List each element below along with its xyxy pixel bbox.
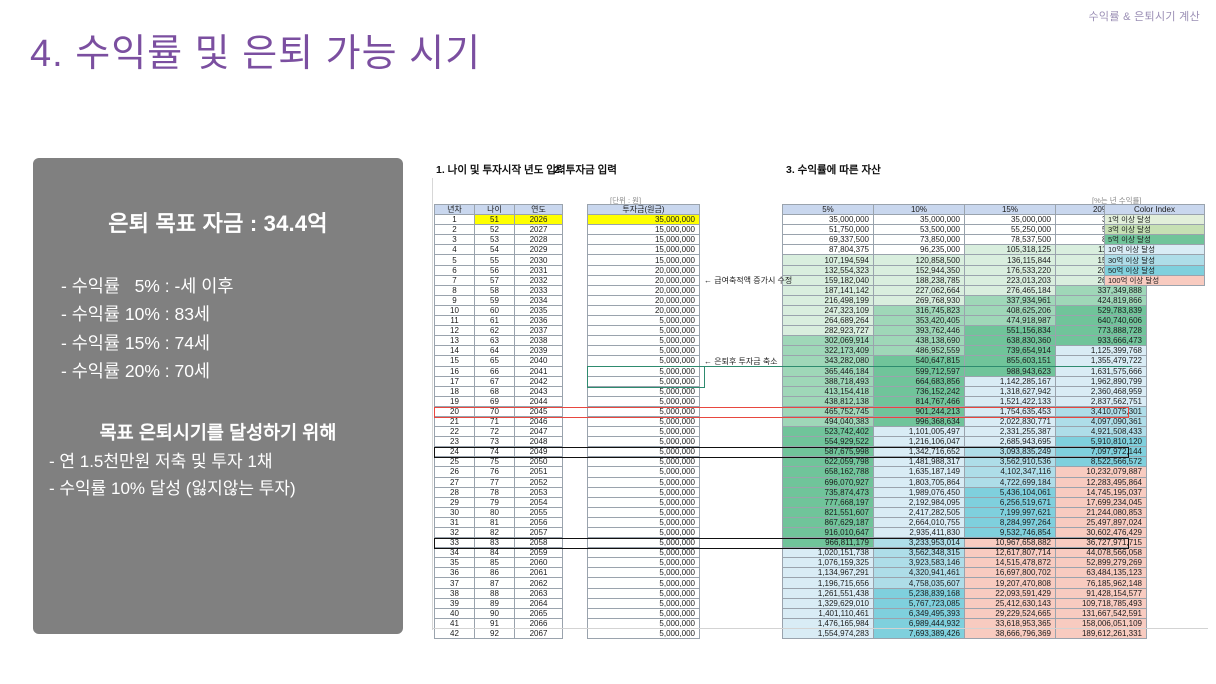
cell-asset-rate-10[interactable]: 814,767,466 [874, 396, 965, 406]
cell-asset-rate-15[interactable]: 408,625,206 [965, 305, 1056, 315]
cell-asset-rate-15[interactable]: 6,256,519,671 [965, 497, 1056, 507]
cell-asset-rate-20[interactable]: 21,244,080,853 [1056, 507, 1147, 517]
cell-asset-rate-20[interactable]: 131,667,542,591 [1056, 608, 1147, 618]
cell-asset-rate-10[interactable]: 996,368,634 [874, 416, 965, 426]
table-row[interactable]: 8582033 [435, 285, 563, 295]
cell-age[interactable]: 54 [475, 245, 515, 255]
cell-age[interactable]: 76 [475, 467, 515, 477]
cell-asset-rate-5[interactable]: 51,750,000 [783, 225, 874, 235]
table-row[interactable]: 4542029 [435, 245, 563, 255]
cell-age[interactable]: 85 [475, 558, 515, 568]
cell-year[interactable]: 2027 [515, 225, 563, 235]
cell-asset-rate-5[interactable]: 777,668,197 [783, 497, 874, 507]
cell-asset-rate-5[interactable]: 587,675,998 [783, 447, 874, 457]
cell-investment[interactable]: 5,000,000 [588, 608, 700, 618]
cell-asset-rate-15[interactable]: 35,000,000 [965, 215, 1056, 225]
table-row[interactable]: 5,000,000 [588, 386, 700, 396]
cell-asset-rate-20[interactable]: 76,185,962,148 [1056, 578, 1147, 588]
cell-asset-rate-20[interactable]: 14,745,195,037 [1056, 487, 1147, 497]
table-row[interactable]: 69,337,50073,850,00078,537,50083,400,000 [783, 235, 1147, 245]
cell-asset-rate-10[interactable]: 2,935,411,830 [874, 528, 965, 538]
cell-investment[interactable]: 5,000,000 [588, 507, 700, 517]
cell-asset-rate-5[interactable]: 322,173,409 [783, 346, 874, 356]
cell-asset-rate-5[interactable]: 554,929,522 [783, 437, 874, 447]
cell-investment[interactable]: 35,000,000 [588, 215, 700, 225]
table-row[interactable]: 282,923,727393,762,446551,156,834773,888… [783, 326, 1147, 336]
cell-asset-rate-10[interactable]: 664,683,856 [874, 376, 965, 386]
cell-investment[interactable]: 5,000,000 [588, 558, 700, 568]
cell-asset-rate-15[interactable]: 14,515,478,872 [965, 558, 1056, 568]
table-row[interactable]: 15,000,000 [588, 235, 700, 245]
cell-year-index[interactable]: 20 [435, 406, 475, 416]
cell-asset-rate-15[interactable]: 276,465,184 [965, 285, 1056, 295]
table-row[interactable]: 34842059 [435, 548, 563, 558]
cell-investment[interactable]: 5,000,000 [588, 326, 700, 336]
cell-asset-rate-10[interactable]: 393,762,446 [874, 326, 965, 336]
cell-asset-rate-5[interactable]: 916,010,647 [783, 528, 874, 538]
table-row[interactable]: 465,752,745901,244,2131,754,635,4533,410… [783, 406, 1147, 416]
cell-year[interactable]: 2048 [515, 437, 563, 447]
cell-age[interactable]: 79 [475, 497, 515, 507]
table-row[interactable]: 37872062 [435, 578, 563, 588]
table-row[interactable]: 20,000,000 [588, 275, 700, 285]
cell-age[interactable]: 75 [475, 457, 515, 467]
cell-asset-rate-20[interactable]: 109,718,785,493 [1056, 598, 1147, 608]
cell-year[interactable]: 2028 [515, 235, 563, 245]
table-row[interactable]: 5,000,000 [588, 447, 700, 457]
cell-asset-rate-10[interactable]: 540,647,815 [874, 356, 965, 366]
cell-asset-rate-5[interactable]: 159,182,040 [783, 275, 874, 285]
table-row[interactable]: 5,000,000 [588, 608, 700, 618]
cell-age[interactable]: 90 [475, 608, 515, 618]
cell-investment[interactable]: 5,000,000 [588, 366, 700, 376]
table-row[interactable]: 867,629,1872,664,010,7558,284,997,26425,… [783, 517, 1147, 527]
cell-year[interactable]: 2053 [515, 487, 563, 497]
cell-asset-rate-10[interactable]: 4,758,035,607 [874, 578, 965, 588]
table-row[interactable]: 20,000,000 [588, 265, 700, 275]
cell-asset-rate-5[interactable]: 438,812,138 [783, 396, 874, 406]
cell-year-index[interactable]: 27 [435, 477, 475, 487]
table-row[interactable]: 1,134,967,2914,320,941,46116,697,800,702… [783, 568, 1147, 578]
cell-investment[interactable]: 5,000,000 [588, 346, 700, 356]
cell-asset-rate-10[interactable]: 73,850,000 [874, 235, 965, 245]
cell-asset-rate-20[interactable]: 17,699,234,045 [1056, 497, 1147, 507]
table-row[interactable]: 1512026 [435, 215, 563, 225]
cell-age[interactable]: 74 [475, 447, 515, 457]
asset-projection-table[interactable]: 5% 10% 15% 20% 35,000,00035,000,00035,00… [782, 204, 1147, 639]
cell-asset-rate-15[interactable]: 1,754,635,453 [965, 406, 1056, 416]
cell-year[interactable]: 2052 [515, 477, 563, 487]
cell-asset-rate-5[interactable]: 735,874,473 [783, 487, 874, 497]
table-row[interactable]: 38882063 [435, 588, 563, 598]
cell-asset-rate-10[interactable]: 227,062,664 [874, 285, 965, 295]
cell-investment[interactable]: 5,000,000 [588, 406, 700, 416]
table-row[interactable]: 5,000,000 [588, 316, 700, 326]
cell-asset-rate-10[interactable]: 269,768,930 [874, 295, 965, 305]
table-row[interactable]: 21712046 [435, 416, 563, 426]
cell-year[interactable]: 2037 [515, 326, 563, 336]
cell-asset-rate-15[interactable]: 12,617,807,714 [965, 548, 1056, 558]
table-row[interactable]: 159,182,040188,238,785223,013,203264,458… [783, 275, 1147, 285]
cell-asset-rate-5[interactable]: 1,020,151,738 [783, 548, 874, 558]
cell-asset-rate-20[interactable]: 424,819,866 [1056, 295, 1147, 305]
cell-year[interactable]: 2031 [515, 265, 563, 275]
cell-age[interactable]: 80 [475, 507, 515, 517]
cell-asset-rate-20[interactable]: 4,097,090,361 [1056, 416, 1147, 426]
cell-year-index[interactable]: 25 [435, 457, 475, 467]
cell-asset-rate-20[interactable]: 1,962,890,799 [1056, 376, 1147, 386]
cell-year-index[interactable]: 16 [435, 366, 475, 376]
cell-asset-rate-20[interactable]: 2,837,562,751 [1056, 396, 1147, 406]
cell-asset-rate-5[interactable]: 216,498,199 [783, 295, 874, 305]
cell-asset-rate-15[interactable]: 8,284,997,264 [965, 517, 1056, 527]
cell-year-index[interactable]: 18 [435, 386, 475, 396]
cell-age[interactable]: 51 [475, 215, 515, 225]
cell-asset-rate-10[interactable]: 4,320,941,461 [874, 568, 965, 578]
cell-year[interactable]: 2060 [515, 558, 563, 568]
cell-year-index[interactable]: 37 [435, 578, 475, 588]
cell-age[interactable]: 67 [475, 376, 515, 386]
table-row[interactable]: 20,000,000 [588, 285, 700, 295]
table-row[interactable]: 15,000,000 [588, 245, 700, 255]
cell-asset-rate-20[interactable]: 91,428,154,577 [1056, 588, 1147, 598]
cell-year[interactable]: 2057 [515, 528, 563, 538]
cell-asset-rate-10[interactable]: 6,989,444,932 [874, 618, 965, 628]
cell-year[interactable]: 2039 [515, 346, 563, 356]
cell-asset-rate-15[interactable]: 739,654,914 [965, 346, 1056, 356]
cell-year-index[interactable]: 14 [435, 346, 475, 356]
cell-asset-rate-10[interactable]: 35,000,000 [874, 215, 965, 225]
cell-asset-rate-15[interactable]: 16,697,800,702 [965, 568, 1056, 578]
cell-asset-rate-5[interactable]: 388,718,493 [783, 376, 874, 386]
cell-asset-rate-20[interactable]: 7,097,972,144 [1056, 447, 1147, 457]
cell-investment[interactable]: 5,000,000 [588, 336, 700, 346]
table-row[interactable]: 388,718,493664,683,8561,142,285,1671,962… [783, 376, 1147, 386]
table-row[interactable]: 5,000,000 [588, 568, 700, 578]
table-row[interactable]: 438,812,138814,767,4661,521,422,1332,837… [783, 396, 1147, 406]
cell-age[interactable]: 73 [475, 437, 515, 447]
cell-asset-rate-20[interactable]: 337,349,888 [1056, 285, 1147, 295]
cell-age[interactable]: 83 [475, 538, 515, 548]
table-row[interactable]: 31812056 [435, 517, 563, 527]
table-row[interactable]: 5,000,000 [588, 427, 700, 437]
table-row[interactable]: 23732048 [435, 437, 563, 447]
cell-asset-rate-15[interactable]: 551,156,834 [965, 326, 1056, 336]
cell-year-index[interactable]: 40 [435, 608, 475, 618]
cell-year[interactable]: 2045 [515, 406, 563, 416]
cell-asset-rate-15[interactable]: 4,102,347,116 [965, 467, 1056, 477]
cell-year-index[interactable]: 23 [435, 437, 475, 447]
cell-investment[interactable]: 5,000,000 [588, 568, 700, 578]
table-row[interactable]: 302,069,914438,138,690638,830,360933,666… [783, 336, 1147, 346]
cell-age[interactable]: 86 [475, 568, 515, 578]
cell-asset-rate-10[interactable]: 5,238,839,168 [874, 588, 965, 598]
cell-year-index[interactable]: 19 [435, 396, 475, 406]
cell-asset-rate-5[interactable]: 1,261,551,438 [783, 588, 874, 598]
cell-year[interactable]: 2029 [515, 245, 563, 255]
cell-asset-rate-15[interactable]: 22,093,591,429 [965, 588, 1056, 598]
cell-asset-rate-20[interactable]: 10,232,079,887 [1056, 467, 1147, 477]
cell-year-index[interactable]: 8 [435, 285, 475, 295]
cell-age[interactable]: 59 [475, 295, 515, 305]
cell-asset-rate-5[interactable]: 264,689,264 [783, 316, 874, 326]
cell-year-index[interactable]: 12 [435, 326, 475, 336]
cell-asset-rate-5[interactable]: 658,162,788 [783, 467, 874, 477]
cell-asset-rate-10[interactable]: 5,767,723,085 [874, 598, 965, 608]
cell-asset-rate-10[interactable]: 353,420,405 [874, 316, 965, 326]
table-row[interactable]: 11612036 [435, 316, 563, 326]
cell-asset-rate-10[interactable]: 316,745,823 [874, 305, 965, 315]
table-row[interactable]: 5,000,000 [588, 558, 700, 568]
cell-asset-rate-5[interactable]: 187,141,142 [783, 285, 874, 295]
cell-investment[interactable]: 5,000,000 [588, 427, 700, 437]
table-row[interactable]: 343,282,080540,647,815855,603,1511,355,4… [783, 356, 1147, 366]
cell-year-index[interactable]: 29 [435, 497, 475, 507]
cell-year-index[interactable]: 39 [435, 598, 475, 608]
cell-investment[interactable]: 5,000,000 [588, 578, 700, 588]
cell-asset-rate-15[interactable]: 9,532,746,854 [965, 528, 1056, 538]
table-row[interactable]: 413,154,418736,152,2421,318,627,9422,360… [783, 386, 1147, 396]
table-row[interactable]: 622,059,7981,481,988,3173,562,910,5368,5… [783, 457, 1147, 467]
table-row[interactable]: 15652040 [435, 356, 563, 366]
table-row[interactable]: 5,000,000 [588, 467, 700, 477]
table-row[interactable]: 26762051 [435, 467, 563, 477]
cell-asset-rate-10[interactable]: 7,693,389,426 [874, 628, 965, 638]
table-row[interactable]: 5,000,000 [588, 538, 700, 548]
table-row[interactable]: 5,000,000 [588, 356, 700, 366]
cell-age[interactable]: 62 [475, 326, 515, 336]
table-row[interactable]: 18682043 [435, 386, 563, 396]
cell-asset-rate-5[interactable]: 247,323,109 [783, 305, 874, 315]
table-row[interactable]: 5,000,000 [588, 326, 700, 336]
investment-table[interactable]: 투자금(원금) 35,000,00015,000,00015,000,00015… [587, 204, 700, 639]
table-row[interactable]: 5,000,000 [588, 628, 700, 638]
table-row[interactable]: 1,261,551,4385,238,839,16822,093,591,429… [783, 588, 1147, 598]
cell-age[interactable]: 68 [475, 386, 515, 396]
cell-investment[interactable]: 5,000,000 [588, 467, 700, 477]
table-row[interactable]: 5,000,000 [588, 477, 700, 487]
table-row[interactable]: 9592034 [435, 295, 563, 305]
table-row[interactable]: 41912066 [435, 618, 563, 628]
cell-asset-rate-20[interactable]: 1,355,479,722 [1056, 356, 1147, 366]
cell-asset-rate-15[interactable]: 4,722,699,184 [965, 477, 1056, 487]
cell-asset-rate-10[interactable]: 1,481,988,317 [874, 457, 965, 467]
table-row[interactable]: 365,446,184599,712,597988,943,6231,631,5… [783, 366, 1147, 376]
cell-investment[interactable]: 15,000,000 [588, 225, 700, 235]
table-row[interactable]: 1,076,159,3253,923,583,14614,515,478,872… [783, 558, 1147, 568]
cell-asset-rate-15[interactable]: 2,685,943,695 [965, 437, 1056, 447]
cell-asset-rate-15[interactable]: 78,537,500 [965, 235, 1056, 245]
cell-year-index[interactable]: 24 [435, 447, 475, 457]
cell-investment[interactable]: 5,000,000 [588, 497, 700, 507]
table-row[interactable]: 777,668,1972,192,984,0956,256,519,67117,… [783, 497, 1147, 507]
cell-asset-rate-10[interactable]: 188,238,785 [874, 275, 965, 285]
table-row[interactable]: 5,000,000 [588, 416, 700, 426]
cell-investment[interactable]: 20,000,000 [588, 285, 700, 295]
table-row[interactable]: 1,020,151,7383,562,348,31512,617,807,714… [783, 548, 1147, 558]
table-row[interactable]: 5,000,000 [588, 376, 700, 386]
table-row[interactable]: 658,162,7881,635,187,1494,102,347,11610,… [783, 467, 1147, 477]
cell-asset-rate-20[interactable]: 52,899,279,269 [1056, 558, 1147, 568]
cell-age[interactable]: 53 [475, 235, 515, 245]
cell-investment[interactable]: 5,000,000 [588, 528, 700, 538]
table-row[interactable]: 523,742,4021,101,005,4972,331,255,3874,9… [783, 427, 1147, 437]
cell-asset-rate-10[interactable]: 3,923,583,146 [874, 558, 965, 568]
cell-year[interactable]: 2055 [515, 507, 563, 517]
cell-age[interactable]: 60 [475, 305, 515, 315]
cell-asset-rate-15[interactable]: 337,934,961 [965, 295, 1056, 305]
cell-asset-rate-10[interactable]: 901,244,213 [874, 406, 965, 416]
table-row[interactable]: 20,000,000 [588, 295, 700, 305]
cell-age[interactable]: 84 [475, 548, 515, 558]
cell-investment[interactable]: 5,000,000 [588, 386, 700, 396]
table-row[interactable]: 264,689,264353,420,405474,918,987640,740… [783, 316, 1147, 326]
cell-age[interactable]: 71 [475, 416, 515, 426]
cell-year[interactable]: 2056 [515, 517, 563, 527]
cell-asset-rate-20[interactable]: 25,497,897,024 [1056, 517, 1147, 527]
cell-age[interactable]: 77 [475, 477, 515, 487]
table-row[interactable]: 216,498,199269,768,930337,934,961424,819… [783, 295, 1147, 305]
cell-year-index[interactable]: 28 [435, 487, 475, 497]
table-row[interactable]: 322,173,409486,952,559739,654,9141,125,3… [783, 346, 1147, 356]
table-row[interactable]: 14642039 [435, 346, 563, 356]
cell-investment[interactable]: 5,000,000 [588, 598, 700, 608]
table-row[interactable]: 2522027 [435, 225, 563, 235]
cell-investment[interactable]: 20,000,000 [588, 295, 700, 305]
table-row[interactable]: 35,000,00035,000,00035,000,00035,000,000 [783, 215, 1147, 225]
table-row[interactable]: 5,000,000 [588, 588, 700, 598]
table-row[interactable]: 5,000,000 [588, 346, 700, 356]
cell-asset-rate-5[interactable]: 1,401,110,461 [783, 608, 874, 618]
cell-year[interactable]: 2034 [515, 295, 563, 305]
cell-asset-rate-15[interactable]: 38,666,796,369 [965, 628, 1056, 638]
cell-year-index[interactable]: 10 [435, 305, 475, 315]
cell-asset-rate-15[interactable]: 7,199,997,621 [965, 507, 1056, 517]
cell-investment[interactable]: 5,000,000 [588, 356, 700, 366]
cell-asset-rate-5[interactable]: 494,040,383 [783, 416, 874, 426]
cell-asset-rate-10[interactable]: 1,803,705,864 [874, 477, 965, 487]
table-row[interactable]: 16662041 [435, 366, 563, 376]
cell-investment[interactable]: 5,000,000 [588, 538, 700, 548]
table-row[interactable]: 5,000,000 [588, 396, 700, 406]
cell-asset-rate-20[interactable]: 1,631,575,666 [1056, 366, 1147, 376]
cell-year[interactable]: 2044 [515, 396, 563, 406]
cell-year[interactable]: 2066 [515, 618, 563, 628]
cell-asset-rate-20[interactable]: 158,006,051,109 [1056, 618, 1147, 628]
cell-asset-rate-5[interactable]: 966,811,179 [783, 538, 874, 548]
cell-investment[interactable]: 20,000,000 [588, 305, 700, 315]
table-row[interactable]: 35,000,000 [588, 215, 700, 225]
cell-asset-rate-10[interactable]: 152,944,350 [874, 265, 965, 275]
table-row[interactable]: 1,329,629,0105,767,723,08525,412,630,143… [783, 598, 1147, 608]
cell-age[interactable]: 63 [475, 336, 515, 346]
cell-investment[interactable]: 5,000,000 [588, 477, 700, 487]
cell-asset-rate-5[interactable]: 413,154,418 [783, 386, 874, 396]
table-row[interactable]: 132,554,323152,944,350176,533,220203,715… [783, 265, 1147, 275]
table-row[interactable]: 36862061 [435, 568, 563, 578]
cell-asset-rate-5[interactable]: 35,000,000 [783, 215, 874, 225]
cell-investment[interactable]: 5,000,000 [588, 588, 700, 598]
cell-asset-rate-15[interactable]: 1,521,422,133 [965, 396, 1056, 406]
cell-asset-rate-20[interactable]: 44,078,566,058 [1056, 548, 1147, 558]
cell-age[interactable]: 88 [475, 588, 515, 598]
cell-age[interactable]: 55 [475, 255, 515, 265]
table-row[interactable]: 27772052 [435, 477, 563, 487]
table-row[interactable]: 187,141,142227,062,664276,465,184337,349… [783, 285, 1147, 295]
table-row[interactable]: 587,675,9981,342,716,6523,093,835,2497,0… [783, 447, 1147, 457]
cell-year[interactable]: 2032 [515, 275, 563, 285]
table-row[interactable]: 10602035 [435, 305, 563, 315]
cell-investment[interactable]: 5,000,000 [588, 416, 700, 426]
cell-asset-rate-15[interactable]: 136,115,844 [965, 255, 1056, 265]
cell-year-index[interactable]: 42 [435, 628, 475, 638]
cell-year[interactable]: 2046 [515, 416, 563, 426]
table-row[interactable]: 5,000,000 [588, 528, 700, 538]
cell-year[interactable]: 2043 [515, 386, 563, 396]
cell-asset-rate-10[interactable]: 438,138,690 [874, 336, 965, 346]
table-row[interactable]: 5,000,000 [588, 366, 700, 376]
cell-asset-rate-5[interactable]: 622,059,798 [783, 457, 874, 467]
table-row[interactable]: 1,401,110,4616,349,495,39329,229,524,665… [783, 608, 1147, 618]
cell-asset-rate-10[interactable]: 2,664,010,755 [874, 517, 965, 527]
cell-age[interactable]: 58 [475, 285, 515, 295]
cell-investment[interactable]: 5,000,000 [588, 316, 700, 326]
cell-age[interactable]: 61 [475, 316, 515, 326]
table-row[interactable]: 19692044 [435, 396, 563, 406]
cell-investment[interactable]: 5,000,000 [588, 628, 700, 638]
cell-age[interactable]: 70 [475, 406, 515, 416]
cell-year[interactable]: 2036 [515, 316, 563, 326]
table-row[interactable]: 32822057 [435, 528, 563, 538]
cell-asset-rate-5[interactable]: 87,804,375 [783, 245, 874, 255]
table-row[interactable]: 87,804,37596,235,000105,318,125115,080,0… [783, 245, 1147, 255]
cell-year-index[interactable]: 36 [435, 568, 475, 578]
cell-age[interactable]: 69 [475, 396, 515, 406]
table-row[interactable]: 6562031 [435, 265, 563, 275]
cell-asset-rate-20[interactable]: 8,522,566,572 [1056, 457, 1147, 467]
table-row[interactable]: 696,070,9271,803,705,8644,722,699,18412,… [783, 477, 1147, 487]
cell-year-index[interactable]: 9 [435, 295, 475, 305]
cell-asset-rate-5[interactable]: 132,554,323 [783, 265, 874, 275]
cell-investment[interactable]: 5,000,000 [588, 457, 700, 467]
cell-year[interactable]: 2058 [515, 538, 563, 548]
cell-year[interactable]: 2062 [515, 578, 563, 588]
cell-age[interactable]: 52 [475, 225, 515, 235]
cell-asset-rate-5[interactable]: 465,752,745 [783, 406, 874, 416]
table-row[interactable]: 5,000,000 [588, 598, 700, 608]
cell-age[interactable]: 78 [475, 487, 515, 497]
cell-year-index[interactable]: 21 [435, 416, 475, 426]
cell-asset-rate-20[interactable]: 5,910,810,120 [1056, 437, 1147, 447]
cell-asset-rate-10[interactable]: 2,417,282,505 [874, 507, 965, 517]
cell-investment[interactable]: 5,000,000 [588, 548, 700, 558]
cell-age[interactable]: 72 [475, 427, 515, 437]
cell-year[interactable]: 2038 [515, 336, 563, 346]
table-row[interactable]: 5,000,000 [588, 437, 700, 447]
cell-asset-rate-20[interactable]: 12,283,495,864 [1056, 477, 1147, 487]
cell-asset-rate-5[interactable]: 302,069,914 [783, 336, 874, 346]
table-row[interactable]: 966,811,1793,233,953,01410,967,658,88236… [783, 538, 1147, 548]
cell-year-index[interactable]: 33 [435, 538, 475, 548]
cell-asset-rate-15[interactable]: 10,967,658,882 [965, 538, 1056, 548]
cell-asset-rate-5[interactable]: 1,476,165,984 [783, 618, 874, 628]
cell-asset-rate-15[interactable]: 29,229,524,665 [965, 608, 1056, 618]
cell-asset-rate-15[interactable]: 55,250,000 [965, 225, 1056, 235]
cell-investment[interactable]: 20,000,000 [588, 265, 700, 275]
cell-age[interactable]: 64 [475, 346, 515, 356]
cell-asset-rate-5[interactable]: 343,282,080 [783, 356, 874, 366]
cell-investment[interactable]: 5,000,000 [588, 376, 700, 386]
